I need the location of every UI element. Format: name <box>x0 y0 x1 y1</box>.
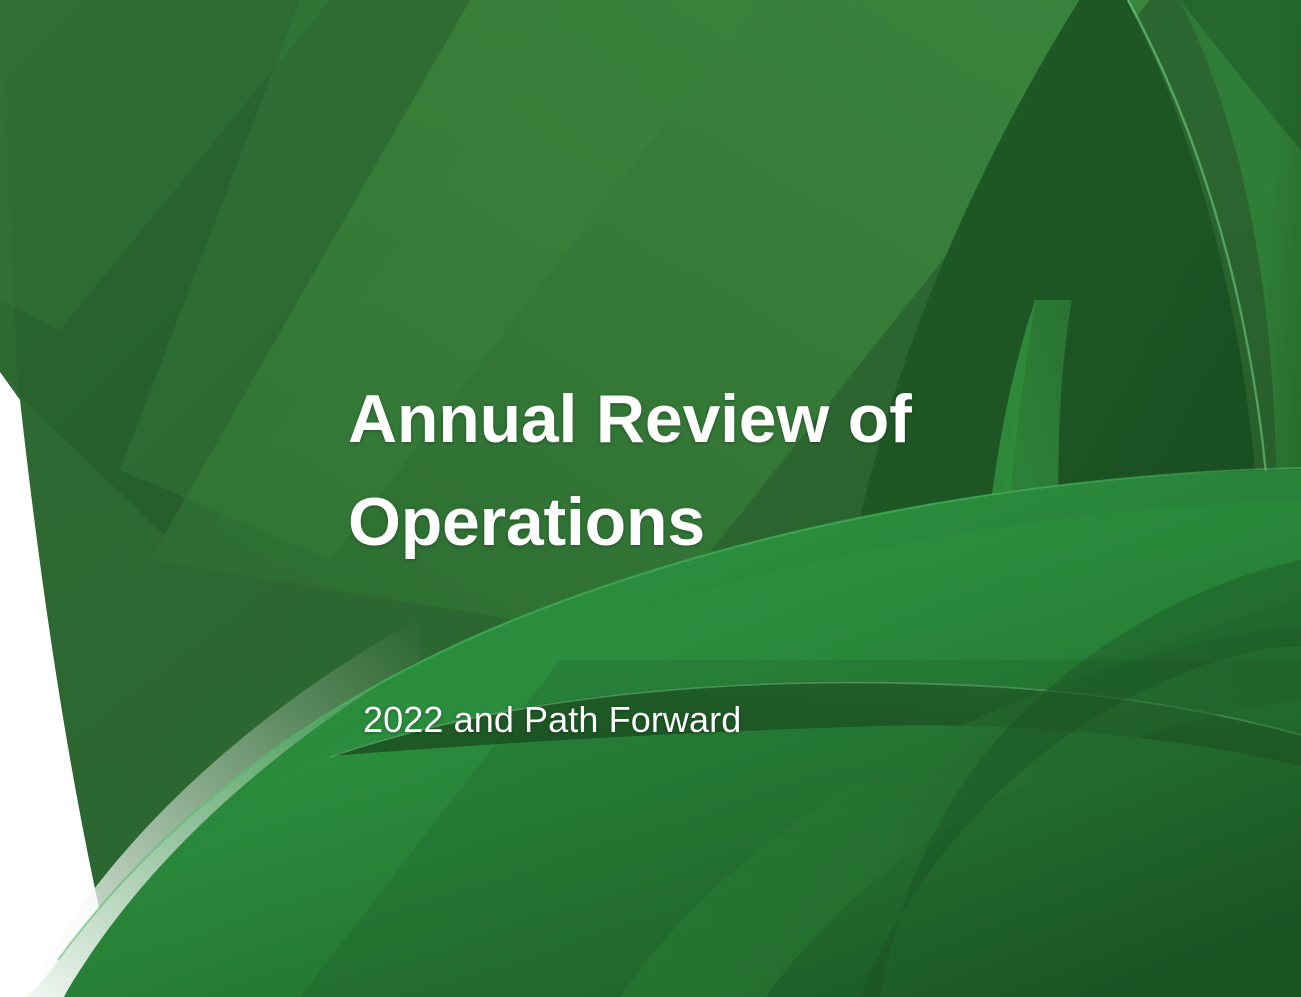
page-subtitle: 2022 and Path Forward <box>363 698 1063 742</box>
slide-text-layer: Annual Review of Operations 2022 and Pat… <box>0 0 1301 997</box>
page-title: Annual Review of Operations <box>348 368 1108 574</box>
title-slide: Annual Review of Operations 2022 and Pat… <box>0 0 1301 997</box>
